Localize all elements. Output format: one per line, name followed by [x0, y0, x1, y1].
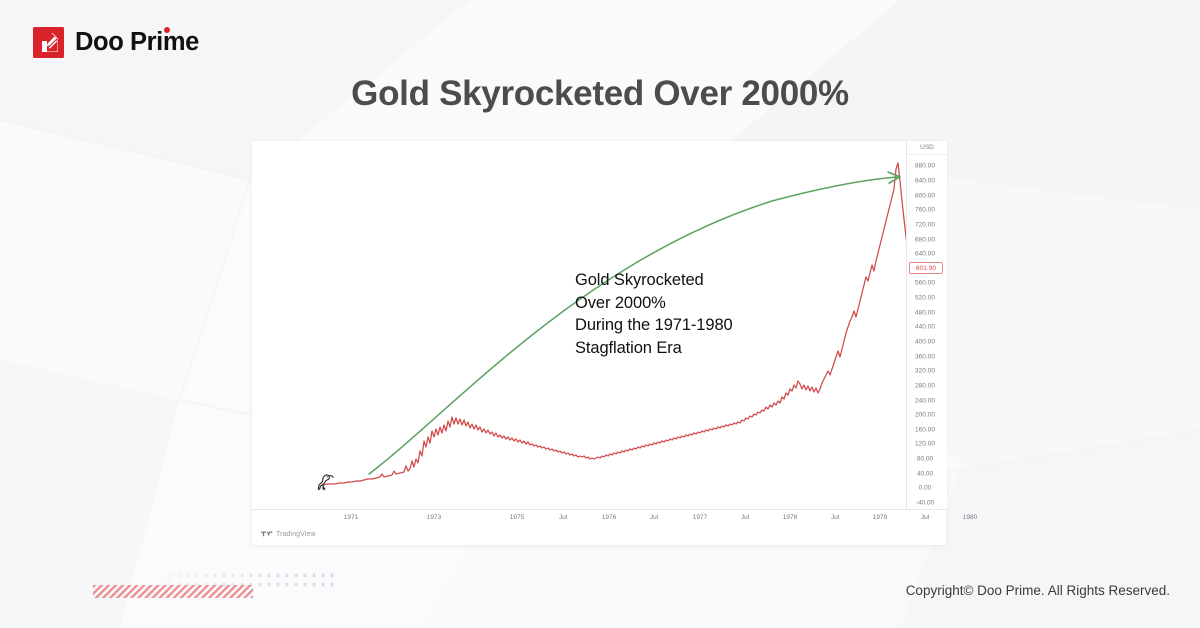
page-title: Gold Skyrocketed Over 2000%: [0, 74, 1200, 114]
annotation-line-4: Stagflation Era: [575, 337, 733, 360]
price-axis-tick: 240.00: [907, 397, 943, 404]
time-axis-tick: 1978: [783, 514, 797, 521]
price-axis-tick: 800.00: [907, 192, 943, 199]
copyright-text: Copyright© Doo Prime. All Rights Reserve…: [906, 583, 1170, 598]
chart-annotation-text: Gold Skyrocketed Over 2000% During the 1…: [575, 269, 733, 359]
price-axis-tick: 560.00: [907, 280, 943, 287]
logo-accent-dot-icon: [164, 27, 170, 33]
price-axis-tick: 280.00: [907, 382, 943, 389]
time-axis-tick: Jul: [741, 514, 749, 521]
price-axis-tick: 200.00: [907, 412, 943, 419]
time-axis-tick: 1980: [963, 514, 977, 521]
price-axis-tick: -40.00: [907, 500, 943, 507]
price-axis-tick: 640.00: [907, 251, 943, 258]
price-axis-tick: 880.00: [907, 163, 943, 170]
time-axis-tick: 1977: [693, 514, 707, 521]
price-axis-tick: 0.00: [907, 485, 943, 492]
tradingview-label: TradingView: [276, 531, 316, 538]
price-axis-tick: 320.00: [907, 368, 943, 375]
price-axis-tick: 480.00: [907, 309, 943, 316]
price-axis-tick: 360.00: [907, 353, 943, 360]
price-axis-tick: 840.00: [907, 177, 943, 184]
price-axis-tick: 720.00: [907, 221, 943, 228]
chart-card: Gold Skyrocketed Over 2000% During the 1…: [252, 141, 946, 545]
annotation-line-3: During the 1971-1980: [575, 314, 733, 337]
price-axis-tick: 400.00: [907, 338, 943, 345]
poster-canvas: Doo Prime Gold Skyrocketed Over 2000%: [0, 0, 1200, 628]
time-axis-tick: 1971: [344, 514, 358, 521]
price-axis-tick: 440.00: [907, 324, 943, 331]
annotation-line-2: Over 2000%: [575, 292, 733, 315]
current-price-tag: 601.90: [909, 262, 943, 274]
brand-logo: Doo Prime: [33, 27, 199, 58]
time-axis-tick: Jul: [921, 514, 929, 521]
price-axis-tick: 80.00: [907, 456, 943, 463]
price-axis-tick: 760.00: [907, 207, 943, 214]
decorative-pattern: [93, 571, 338, 603]
time-axis-tick: Jul: [831, 514, 839, 521]
chart-plot-area: Gold Skyrocketed Over 2000% During the 1…: [252, 141, 906, 509]
dinosaur-doodle-icon: [314, 473, 334, 491]
time-axis[interactable]: 197119731975Jul1976Jul1977Jul1978Jul1979…: [252, 509, 946, 528]
time-axis-tick: Jul: [650, 514, 658, 521]
price-axis[interactable]: USD 880.00840.00800.00760.00720.00680.00…: [906, 141, 947, 509]
time-axis-tick: Jul: [559, 514, 567, 521]
price-axis-tick: 120.00: [907, 441, 943, 448]
tradingview-logo-icon: [261, 530, 273, 538]
tradingview-attribution[interactable]: TradingView: [261, 530, 316, 538]
price-axis-tick: 40.00: [907, 470, 943, 477]
price-axis-unit-label: USD: [907, 144, 947, 155]
doo-prime-square-mark-icon: [33, 27, 64, 58]
brand-name: Doo Prime: [75, 28, 199, 57]
time-axis-tick: 1973: [427, 514, 441, 521]
price-axis-tick: 680.00: [907, 236, 943, 243]
time-axis-tick: 1979: [873, 514, 887, 521]
price-axis-tick: 520.00: [907, 295, 943, 302]
annotation-line-1: Gold Skyrocketed: [575, 269, 733, 292]
time-axis-tick: 1976: [602, 514, 616, 521]
time-axis-tick: 1975: [510, 514, 524, 521]
price-axis-tick: 160.00: [907, 426, 943, 433]
